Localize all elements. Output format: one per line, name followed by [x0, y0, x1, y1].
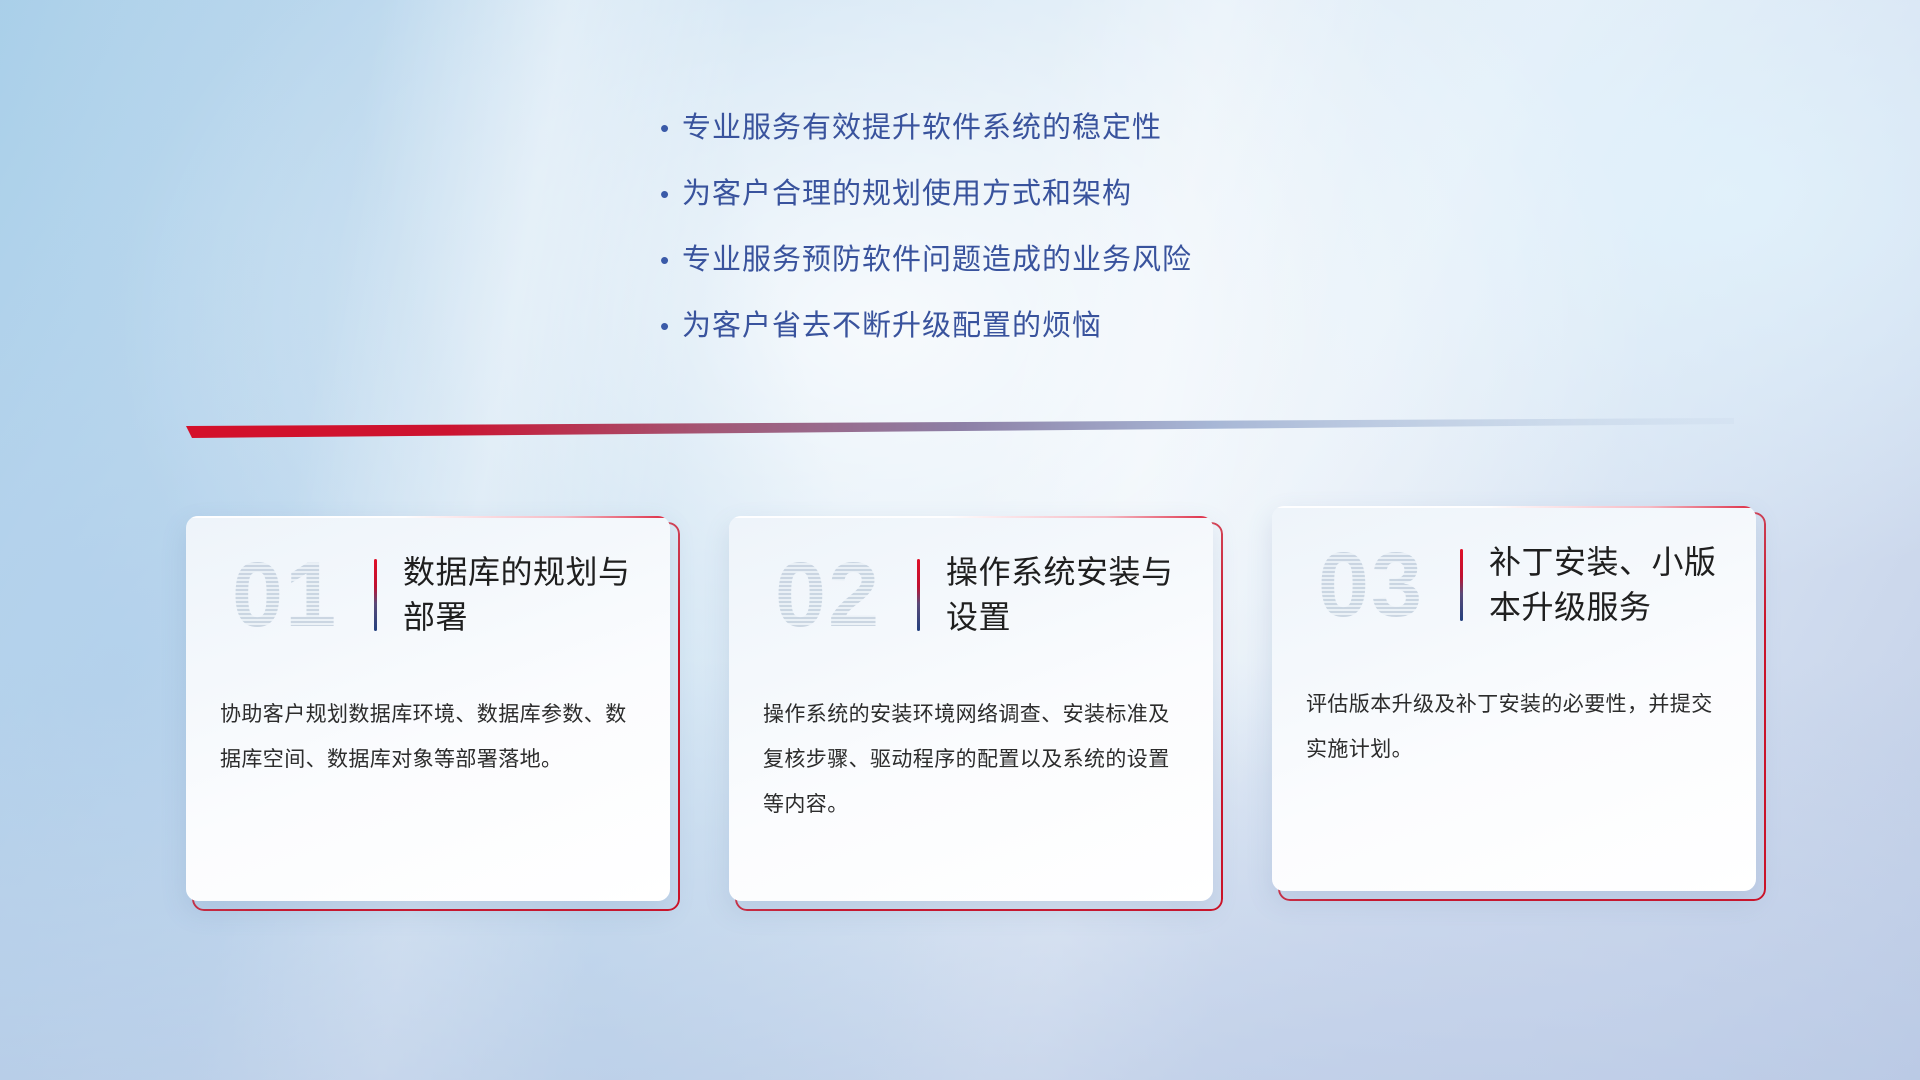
card-header: 02 操作系统安装与设置 [729, 516, 1213, 674]
card-number: 03 [1296, 539, 1446, 631]
bullet-text: 专业服务有效提升软件系统的稳定性 [682, 108, 1162, 148]
card-header: 01 数据库的规划与部署 [186, 516, 670, 674]
slide-root: • 专业服务有效提升软件系统的稳定性 • 为客户合理的规划使用方式和架构 • 专… [0, 0, 1920, 1080]
bullet-dot-icon: • [660, 108, 682, 148]
bullet-list: • 专业服务有效提升软件系统的稳定性 • 为客户合理的规划使用方式和架构 • 专… [660, 108, 1192, 372]
card-body-text: 操作系统的安装环境网络调查、安装标准及复核步骤、驱动程序的配置以及系统的设置等内… [729, 674, 1213, 827]
card-divider-rule [917, 559, 920, 631]
service-card[interactable]: 02 操作系统安装与设置 操作系统的安装环境网络调查、安装标准及复核步骤、驱动程… [729, 516, 1217, 911]
card-face: 02 操作系统安装与设置 操作系统的安装环境网络调查、安装标准及复核步骤、驱动程… [729, 516, 1213, 901]
list-item: • 为客户省去不断升级配置的烦恼 [660, 306, 1192, 346]
bullet-dot-icon: • [660, 306, 682, 346]
list-item: • 为客户合理的规划使用方式和架构 [660, 174, 1192, 214]
bullet-text: 为客户合理的规划使用方式和架构 [682, 174, 1132, 214]
bullet-dot-icon: • [660, 174, 682, 214]
card-body-text: 协助客户规划数据库环境、数据库参数、数据库空间、数据库对象等部署落地。 [186, 674, 670, 782]
card-face: 01 数据库的规划与部署 协助客户规划数据库环境、数据库参数、数据库空间、数据库… [186, 516, 670, 901]
list-item: • 专业服务有效提升软件系统的稳定性 [660, 108, 1192, 148]
card-title: 补丁安装、小版本升级服务 [1489, 540, 1721, 630]
card-title: 数据库的规划与部署 [403, 550, 635, 640]
list-item: • 专业服务预防软件问题造成的业务风险 [660, 240, 1192, 280]
card-row: 01 数据库的规划与部署 协助客户规划数据库环境、数据库参数、数据库空间、数据库… [0, 516, 1920, 911]
card-title: 操作系统安装与设置 [946, 550, 1178, 640]
card-divider-rule [374, 559, 377, 631]
card-header: 03 补丁安装、小版本升级服务 [1272, 506, 1756, 664]
section-divider [186, 418, 1734, 444]
card-face: 03 补丁安装、小版本升级服务 评估版本升级及补丁安装的必要性，并提交实施计划。 [1272, 506, 1756, 891]
bullet-text: 为客户省去不断升级配置的烦恼 [682, 306, 1102, 346]
card-number: 01 [210, 549, 360, 641]
card-number: 02 [753, 549, 903, 641]
card-divider-rule [1460, 549, 1463, 621]
service-card[interactable]: 03 补丁安装、小版本升级服务 评估版本升级及补丁安装的必要性，并提交实施计划。 [1272, 506, 1760, 901]
card-body-text: 评估版本升级及补丁安装的必要性，并提交实施计划。 [1272, 664, 1756, 772]
bullet-text: 专业服务预防软件问题造成的业务风险 [682, 240, 1192, 280]
service-card[interactable]: 01 数据库的规划与部署 协助客户规划数据库环境、数据库参数、数据库空间、数据库… [186, 516, 674, 911]
bullet-dot-icon: • [660, 240, 682, 280]
